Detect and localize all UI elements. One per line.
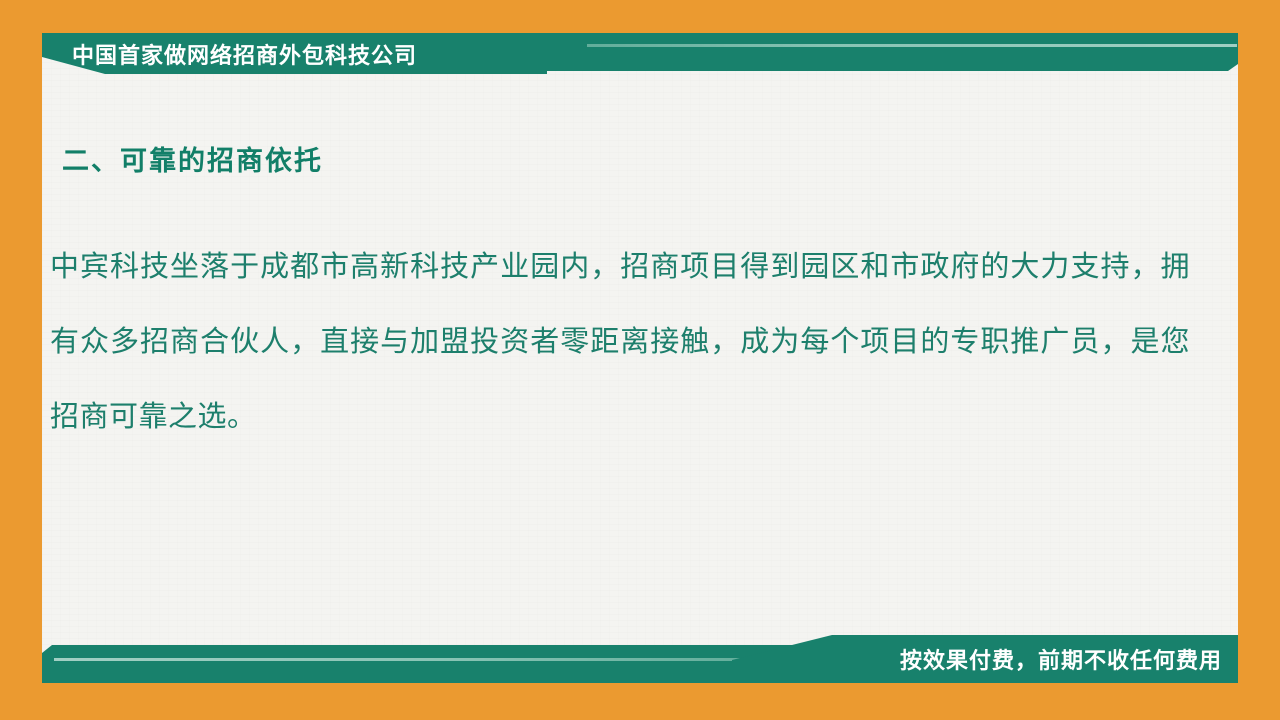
footer-accent-bar (42, 645, 802, 683)
slide-content: 二、可靠的招商依托 中宾科技坐落于成都市高新科技产业园内，招商项目得到园区和市政… (42, 81, 1238, 621)
header-title-text: 中国首家做网络招商外包科技公司 (72, 38, 417, 70)
section-heading: 二、可靠的招商依托 (62, 139, 323, 178)
slide-footer: 按效果付费，前期不收任何费用 (42, 635, 1238, 683)
header-title-banner: 中国首家做网络招商外包科技公司 (42, 33, 547, 74)
header-divider-line (587, 44, 1237, 47)
header-accent-bar (510, 33, 1238, 71)
footer-divider-line (54, 658, 754, 661)
body-paragraph: 中宾科技坐落于成都市高新科技产业园内，招商项目得到园区和市政府的大力支持，拥有众… (50, 229, 1190, 454)
footer-slogan-banner: 按效果付费，前期不收任何费用 (732, 635, 1238, 683)
slide-header: 中国首家做网络招商外包科技公司 (42, 33, 1238, 81)
footer-slogan-text: 按效果付费，前期不收任何费用 (900, 643, 1222, 675)
slide-root: 中国首家做网络招商外包科技公司 二、可靠的招商依托 中宾科技坐落于成都市高新科技… (0, 0, 1280, 720)
